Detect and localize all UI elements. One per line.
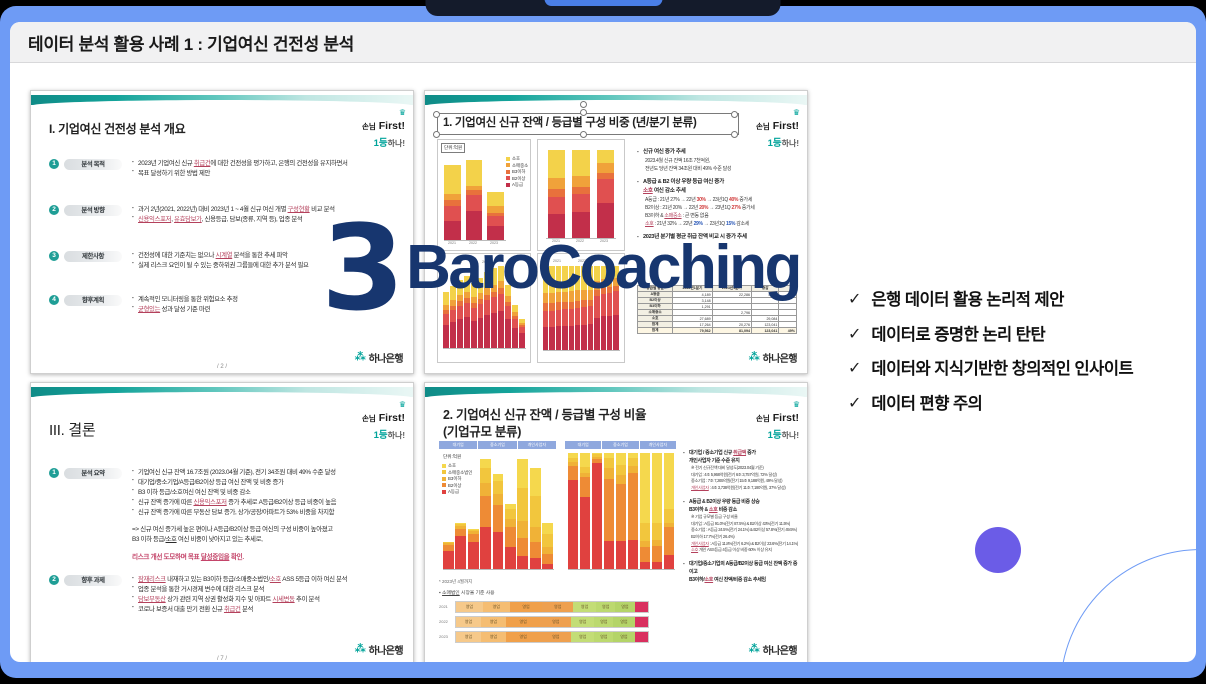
- bar-segment: [581, 307, 586, 325]
- stacked-bar: [491, 268, 497, 348]
- bullet-item: 2023년 기업여신 신규 취급건에 대한 건전성을 평가하고, 은행의 건전성…: [132, 159, 348, 169]
- band-bar: 영업영업영업영업영업영업영업: [455, 601, 649, 613]
- note-line: B2이상 : 21년 20% → 22년 20% → 23년1Q 27% 증가세: [637, 204, 799, 212]
- bar-segment: [468, 534, 479, 541]
- row-number-chip: 1: [49, 468, 59, 478]
- bullet-item: 담보부동산 상가 관련 지역 상권 활성화 지수 및 아파트 시세변동 추이 분…: [132, 595, 347, 605]
- brand-sonnim: 손님: [362, 414, 376, 423]
- row-label: 제한사항: [64, 251, 122, 262]
- brand-rank: 1등: [374, 138, 388, 149]
- brand-rank: 1등: [374, 430, 388, 441]
- band-segment: 영업: [571, 632, 594, 642]
- stacked-bar: [466, 160, 483, 240]
- bar-segment: [478, 304, 484, 318]
- band-segment: 영업: [456, 632, 481, 642]
- stacked-bars: [444, 160, 504, 240]
- legend-entry: B3이하: [506, 169, 528, 176]
- bar-segment: [572, 194, 589, 212]
- bar-segment: [505, 519, 516, 527]
- bar-segment: [505, 285, 511, 296]
- slide-3-row-1: 1 분석 요약 기업여신 신규 잔액 16.7조원 (2023.04월 기준),…: [49, 468, 336, 561]
- check-icon: ✓: [848, 327, 861, 343]
- stacked-bar: [498, 266, 504, 348]
- bar-segment: [487, 206, 504, 213]
- bar-segment: [443, 314, 449, 325]
- bar-segment: [457, 319, 463, 348]
- document-page: 테이터 분석 활용 사례 1 : 기업여신 건전성 분석 I. 기업여신 건전성…: [10, 22, 1196, 662]
- band-segment: 영업: [456, 602, 483, 612]
- bar-segment: [498, 266, 504, 281]
- stacked-bar: [450, 286, 456, 348]
- stacked-bar: [530, 468, 541, 569]
- note-line: 개인사업자 기준 수준 유지: [683, 457, 801, 465]
- chart-group-header: 중소기업: [602, 441, 639, 449]
- bar-segment: [581, 290, 586, 300]
- stacked-bar: [457, 280, 463, 348]
- key-points-checklist: ✓은행 데이터 활용 논리적 제안✓데이터로 증명한 논리 탄탄✓데이터와 지식…: [848, 290, 1193, 429]
- bullet-item: 목표 달성하기 위한 방법 제안: [132, 169, 348, 179]
- summary-emphasis: 리스크 개선 도모하며 목표 달성중임을 확인.: [132, 551, 336, 561]
- bar-segment: [443, 551, 454, 569]
- bar-segment: [484, 300, 490, 315]
- bar-segment: [491, 313, 497, 348]
- slide-header-bar: [425, 95, 807, 105]
- bullet-item: 신규 잔액 증가에 따른 신용익스포저 증가 추세로 A등급/B2이상 등급 비…: [132, 498, 336, 508]
- crown-icon: ♛: [362, 109, 405, 117]
- slide-3-title: III. 결론: [49, 421, 95, 441]
- bar-segment: [607, 279, 612, 287]
- chart-slide4-bands[interactable]: 2021영업영업영업영업영업영업영업2022영업영업영업영업영업영업영업2023…: [439, 601, 649, 647]
- stacked-bar: [616, 453, 626, 569]
- bar-segment: [466, 211, 483, 240]
- hana-mark-icon: ⁂: [355, 352, 366, 363]
- stacked-bar: [444, 165, 461, 240]
- band-segment: 영업: [506, 632, 541, 642]
- chart-slide2-quarterly-percent[interactable]: 2021 2022 2023: [537, 253, 625, 363]
- bar-segment: [572, 176, 589, 187]
- row-label: 향후계획: [64, 295, 122, 306]
- bar-segment: [450, 310, 456, 322]
- checklist-item-label: 은행 데이터 활용 논리적 제안: [871, 290, 1064, 311]
- legend-entry: 소호: [506, 156, 528, 163]
- selection-rotate-handle[interactable]: [580, 101, 587, 108]
- stacked-bar: [549, 266, 554, 350]
- bar-segment: [601, 279, 606, 288]
- hana-bank-name: 하나은행: [369, 350, 403, 365]
- bar-segment: [597, 163, 614, 173]
- bar-segment: [613, 315, 618, 350]
- stacked-bar: [604, 453, 614, 569]
- selection-handle[interactable]: [433, 131, 440, 138]
- bar-segment: [581, 325, 586, 350]
- slide-thumbnail-1[interactable]: I. 기업여신 건전성 분석 개요 ♛ 손님 First! 1등하나! 1 분석…: [30, 90, 414, 374]
- bar-segment: [542, 523, 553, 534]
- band-segment: 영업: [481, 617, 506, 627]
- decorative-arc: [1060, 549, 1196, 662]
- note-line: 대기업/중소기업의 A등급/B2이상 등급 여신 잔액 증가 중이고: [683, 560, 801, 576]
- stacked-bar: [568, 453, 578, 569]
- slide-thumbnail-2[interactable]: 1. 기업여신 신규 잔액 / 등급별 구성 비중 (년/분기 분류) ♛ 손님…: [424, 90, 808, 374]
- selection-handle[interactable]: [580, 131, 587, 138]
- band-bar: 영업영업영업영업영업영업영업: [455, 616, 649, 628]
- bar-segment: [493, 532, 504, 569]
- bar-segment: [493, 474, 504, 481]
- bar-segment: [505, 527, 516, 547]
- bar-segment: [517, 556, 528, 569]
- band-segment: 영업: [596, 602, 615, 612]
- bar-segment: [517, 521, 528, 538]
- bar-segment: [588, 306, 593, 324]
- selection-handle[interactable]: [731, 131, 738, 138]
- note-line: 개인사업자 : 4조 3,738억원(전기 11조 7,190억원, 37% 달…: [683, 485, 801, 492]
- stacked-bar: [519, 319, 525, 348]
- bar-segment: [575, 290, 580, 301]
- band-row: 2021영업영업영업영업영업영업영업: [439, 601, 649, 613]
- slide-thumbnail-4[interactable]: 2. 기업여신 신규 잔액 / 등급별 구성 비율 (기업규모 분류) ♛ 손님…: [424, 382, 808, 662]
- bar-segment: [464, 303, 470, 317]
- stacked-bar: [594, 266, 599, 350]
- bullet-item: 실제 리스크 요인이 될 수 있는 중하위권 그룹들에 대한 추가 분석 필요: [132, 261, 309, 271]
- stacked-bar: [464, 276, 470, 348]
- stacked-bar: [484, 272, 490, 348]
- bar-segment: [562, 302, 567, 309]
- bar-segment: [664, 527, 674, 555]
- bar-segment: [543, 327, 548, 350]
- stacked-bar: [601, 266, 606, 350]
- row-number-chip: 3: [49, 251, 59, 261]
- bar-segment: [616, 475, 626, 484]
- bar-segment: [652, 562, 662, 569]
- band-year-label: 2022: [439, 619, 448, 624]
- bar-segment: [530, 527, 541, 542]
- bar-segment: [562, 309, 567, 327]
- note-line: ※ 전기 신규잔액 대비 달성도(2023.04월 기준): [683, 465, 801, 472]
- note-line: 소호 여신 감소 추세: [637, 187, 799, 196]
- note-line: ※ 기업 규모별 등급 구성 비율: [683, 514, 801, 521]
- note-line: A등급 & B2이상 우량 등급 비중 상승: [683, 498, 801, 506]
- slide-page-number: / 7 /: [217, 656, 227, 662]
- bar-segment: [604, 479, 614, 542]
- bar-segment: [466, 195, 483, 211]
- legend-swatch: [506, 183, 510, 187]
- row-label: 분석 요약: [64, 468, 122, 479]
- brand-sonnim: 손님: [756, 414, 770, 423]
- bar-segment: [548, 150, 565, 178]
- bar-segment: [556, 326, 561, 350]
- bar-segment: [569, 326, 574, 350]
- slide-thumbnail-3[interactable]: III. 결론 ♛ 손님 First! 1등하나! 1 분석 요약 기업여신 신…: [30, 382, 414, 662]
- bar-segment: [601, 316, 606, 350]
- bar-segment: [569, 302, 574, 309]
- bar-segment: [493, 505, 504, 532]
- slide-header-bar: [425, 387, 807, 397]
- chart-slide4-percent[interactable]: 대기업중소기업개인사업자: [565, 441, 677, 576]
- bullet-item: 계속적인 모니터링을 통한 위험요소 추정: [132, 295, 238, 305]
- bar-segment: [543, 303, 548, 311]
- bar-segment: [549, 327, 554, 350]
- table-total-row: 합계79,56281,094123,04149%: [638, 328, 797, 334]
- bar-segment: [613, 291, 618, 315]
- bar-segment: [652, 546, 662, 562]
- bar-segment: [505, 509, 516, 518]
- bar-segment: [562, 266, 567, 292]
- bullet-item: 코로나 보증서 대출 만기 전환 신규 취급건 분석: [132, 605, 347, 615]
- bar-segment: [493, 494, 504, 505]
- note-line: A등급 : 21년 27% → 22년 30% → 23년1Q 40% 증가세: [637, 196, 799, 204]
- bar-segment: [455, 536, 466, 569]
- bar-segment: [556, 310, 561, 327]
- chart-slide4-amount[interactable]: 대기업중소기업개인사업자 단위:억원 소호소매중소법인B3이하B2이상A등급: [439, 441, 557, 576]
- screenshot-stage: 테이터 분석 활용 사례 1 : 기업여신 건전성 분석 I. 기업여신 건전성…: [0, 0, 1206, 684]
- band-segment: 영업: [483, 602, 510, 612]
- checklist-item: ✓은행 데이터 활용 논리적 제안: [848, 290, 1193, 311]
- bar-segment: [512, 305, 518, 312]
- checklist-item-label: 데이터와 지식기반한 창의적인 인사이트: [871, 359, 1133, 380]
- bar-segment: [549, 293, 554, 303]
- stacked-bars: [568, 453, 674, 569]
- bar-segment: [592, 463, 602, 569]
- bar-segment: [455, 529, 466, 536]
- stacked-bar: [580, 453, 590, 569]
- selection-handle[interactable]: [580, 109, 587, 116]
- slide-1-row-2: 2 분석 방향 과거 2년(2021, 2022년) 대비 2023년 1 ~ …: [49, 205, 335, 225]
- bar-segment: [569, 309, 574, 326]
- bar-segment: [568, 466, 578, 480]
- bar-segment: [594, 266, 599, 281]
- brand-rank: 1등: [768, 430, 782, 441]
- bar-segment: [562, 326, 567, 350]
- stacked-bar: [664, 453, 674, 569]
- bar-segment: [549, 303, 554, 311]
- bar-segment: [480, 459, 491, 468]
- stacked-bar: [581, 266, 586, 350]
- bar-segment: [444, 221, 461, 240]
- bar-segment: [616, 453, 626, 465]
- stacked-bar: [613, 266, 618, 350]
- row-bullets: 2023년 기업여신 신규 취급건에 대한 건전성을 평가하고, 은행의 건전성…: [132, 159, 348, 179]
- brand-hana: 하나!: [388, 139, 405, 148]
- note-line: 신규 여신 증가 추세: [637, 148, 799, 157]
- check-icon: ✓: [848, 396, 861, 412]
- slide-4-notes: 대기업 / 중소기업 신규 취급액 증가개인사업자 기준 수준 유지※ 전기 신…: [683, 443, 801, 584]
- bar-segment: [471, 308, 477, 321]
- chart-slide2-quarterly-amount[interactable]: 2021 2022 2023: [437, 253, 531, 363]
- bar-segment: [575, 266, 580, 290]
- stacked-bar: [443, 292, 449, 348]
- hana-bank-logo: ⁂ 하나은행: [355, 642, 403, 657]
- bar-segment: [498, 311, 504, 348]
- bullet-item: 기업여신 신규 잔액 16.7조원 (2023.04월 기준), 전기 34조원…: [132, 468, 336, 478]
- page-title-bar: 테이터 분석 활용 사례 1 : 기업여신 건전성 분석: [10, 22, 1196, 63]
- bar-segment: [464, 276, 470, 292]
- bar-segment: [607, 293, 612, 316]
- band-segment: 영업: [456, 617, 481, 627]
- brand-sonnim: 손님: [756, 122, 770, 131]
- chart-slide2-yearly-percent[interactable]: 2021 2022 2023: [537, 139, 625, 251]
- bar-segment: [572, 150, 589, 176]
- bar-segment: [493, 481, 504, 494]
- bar-segment: [464, 317, 470, 348]
- bar-segment: [548, 214, 565, 238]
- bar-segment: [549, 266, 554, 293]
- bar-segment: [457, 280, 463, 295]
- slide-header-bar: [31, 387, 413, 397]
- chart-group-header: 개인사업자: [640, 441, 677, 449]
- bar-segment: [556, 266, 561, 292]
- stacked-bar: [556, 266, 561, 350]
- bar-segment: [530, 468, 541, 495]
- bar-segment: [491, 297, 497, 312]
- table-cell: 79,562: [673, 328, 712, 334]
- bullet-item: 건전성에 대한 기준치는 없으나 시계열 분석을 통한 추세 파악: [132, 251, 309, 261]
- check-icon: ✓: [848, 292, 861, 308]
- legend-entry: B2이상: [506, 176, 528, 183]
- stacked-bar: [543, 266, 548, 350]
- chart-group-headers: 대기업중소기업개인사업자: [439, 441, 557, 449]
- band-segment: 영업: [506, 617, 541, 627]
- note-line: 전년도 당년 잔액 34조원 대비 49% 수준 달성: [637, 165, 799, 173]
- top-notch: [426, 0, 781, 16]
- stacked-bar: [468, 529, 479, 569]
- legend-swatch: [506, 170, 510, 174]
- bar-segment: [484, 288, 490, 295]
- band-segment: 영업: [481, 632, 506, 642]
- bar-segment: [628, 540, 638, 569]
- bar-segment: [580, 453, 590, 467]
- band-segment: [635, 632, 648, 642]
- band-segment: 영업: [615, 602, 634, 612]
- bar-segment: [457, 306, 463, 319]
- stacked-bar: [493, 474, 504, 569]
- slide-4-footnote-2: ▪ 소매법인 시장율 기준 사용: [439, 589, 495, 596]
- stacked-bar: [487, 192, 504, 240]
- stacked-bar: [505, 504, 516, 569]
- hana-mark-icon: ⁂: [355, 644, 366, 655]
- table-cell: 123,041: [751, 328, 778, 334]
- bar-segment: [519, 333, 525, 348]
- stacked-bar: [480, 459, 491, 569]
- slide-1-row-1: 1 분석 목적 2023년 기업여신 신규 취급건에 대한 건전성을 평가하고,…: [49, 159, 348, 179]
- bar-segment: [580, 497, 590, 569]
- selection-handle[interactable]: [731, 111, 738, 118]
- band-bar: 영업영업영업영업영업영업영업: [455, 631, 649, 643]
- bar-segment: [471, 283, 477, 297]
- bar-segment: [597, 150, 614, 163]
- bar-segment: [640, 453, 650, 523]
- brand-first: First!: [773, 120, 799, 132]
- band-segment: 영업: [573, 602, 596, 612]
- stacked-bar: [597, 150, 614, 238]
- stacked-bar: [517, 459, 528, 569]
- stacked-bar: [478, 278, 484, 348]
- table-cell: 합계: [638, 328, 673, 334]
- bar-segment: [517, 488, 528, 521]
- stacked-bar: [548, 150, 565, 238]
- note-line: 2023.4월 신규 잔액 16조 7천억원,: [637, 157, 799, 165]
- slide-4-footnote-1: * 2023년 4월까지: [439, 579, 472, 585]
- stacked-bar: [455, 523, 466, 569]
- band-segment: 영업: [594, 632, 613, 642]
- selection-handle[interactable]: [433, 111, 440, 118]
- slide-2-title: 1. 기업여신 신규 잔액 / 등급별 구성 비중 (년/분기 분류): [437, 113, 739, 135]
- bar-segment: [512, 319, 518, 328]
- crown-icon: ♛: [756, 109, 799, 117]
- bar-segment: [588, 300, 593, 307]
- note-line: 소호 : 21년 32% → 22년 29% → 23년1Q 15% 감소세: [637, 220, 799, 228]
- bar-segment: [572, 212, 589, 238]
- bar-segment: [594, 318, 599, 350]
- bar-segment: [616, 484, 626, 541]
- crown-icon: ♛: [756, 401, 799, 409]
- stacked-bar: [562, 266, 567, 350]
- row-bullets: 과거 2년(2021, 2022년) 대비 2023년 1 ~ 4월 신규 여신…: [132, 205, 335, 225]
- stacked-bars: [543, 266, 619, 350]
- bar-segment: [498, 294, 504, 311]
- note-line: B3이하 & 소매중소 : 큰 변동 없음: [637, 212, 799, 220]
- legend-swatch: [506, 157, 510, 161]
- bar-segment: [607, 266, 612, 279]
- stacked-bar: [575, 266, 580, 350]
- bar-segment: [548, 189, 565, 197]
- bar-segment: [542, 547, 553, 554]
- band-segment: 영업: [571, 617, 594, 627]
- brand-hana: 하나!: [388, 431, 405, 440]
- bar-segment: [478, 318, 484, 348]
- legend-swatch: [506, 176, 510, 180]
- bar-segment: [498, 281, 504, 288]
- hana-first-logo: ♛ 손님 First! 1등하나!: [756, 401, 799, 443]
- chart-group-header: 중소기업: [478, 441, 517, 449]
- bar-segment: [604, 458, 614, 468]
- checklist-item: ✓데이터 편향 주의: [848, 394, 1193, 415]
- row-bullets: 잠재리스크 내재하고 있는 B3이하 등급/소매중소법인/소호 ASS 5등급 …: [132, 575, 347, 615]
- hana-bank-name: 하나은행: [763, 642, 797, 657]
- hana-bank-name: 하나은행: [763, 350, 797, 365]
- hana-first-logo: ♛ 손님 First! 1등하나!: [362, 109, 405, 151]
- note-line: B3이하/소호 여신 잔액/비중 감소 추세임: [683, 576, 801, 584]
- stacked-bar: [652, 453, 662, 569]
- hana-bank-name: 하나은행: [369, 642, 403, 657]
- bar-segment: [607, 316, 612, 350]
- bar-segment: [444, 165, 461, 194]
- bar-segment: [450, 322, 456, 348]
- row-bullets: 계속적인 모니터링을 통한 위험요소 추정 균형있는 성과 달성 기준 마련: [132, 295, 238, 315]
- table-cell: 49%: [779, 328, 797, 334]
- bar-segment: [616, 465, 626, 475]
- row-bullets: 기업여신 신규 잔액 16.7조원 (2023.04월 기준), 전기 34조원…: [132, 468, 336, 561]
- bar-segment: [466, 160, 483, 186]
- bar-segment: [543, 311, 548, 328]
- band-segment: 영업: [613, 632, 634, 642]
- bullet-item: 업종 분석을 통한 거시경제 변수에 대한 리스크 분석: [132, 585, 347, 595]
- bullet-item: 대기업/중소기업/A등급/B2이상 등급 여신 잔액 및 비중 증가: [132, 478, 336, 488]
- row-number-chip: 4: [49, 295, 59, 305]
- chart-unit-label: 단위:억원: [441, 143, 465, 153]
- stacked-bar: [607, 266, 612, 350]
- brand-first: First!: [379, 412, 405, 424]
- bar-segment: [517, 538, 528, 556]
- bar-segment: [664, 453, 674, 509]
- bar-segment: [543, 293, 548, 303]
- stacked-bar: [640, 453, 650, 569]
- stacked-bar: [542, 523, 553, 569]
- brand-sonnim: 손님: [362, 122, 376, 131]
- slide-header-bar: [31, 95, 413, 105]
- bullet-item: 잠재리스크 내재하고 있는 B3이하 등급/소매중소법인/소호 ASS 5등급 …: [132, 575, 347, 585]
- hana-mark-icon: ⁂: [749, 644, 760, 655]
- bar-segment: [640, 547, 650, 562]
- chart-slide2-yearly-amount[interactable]: 단위:억원 2021 2022 2023 소호소매중소B3이하B2이상A등급: [437, 139, 531, 251]
